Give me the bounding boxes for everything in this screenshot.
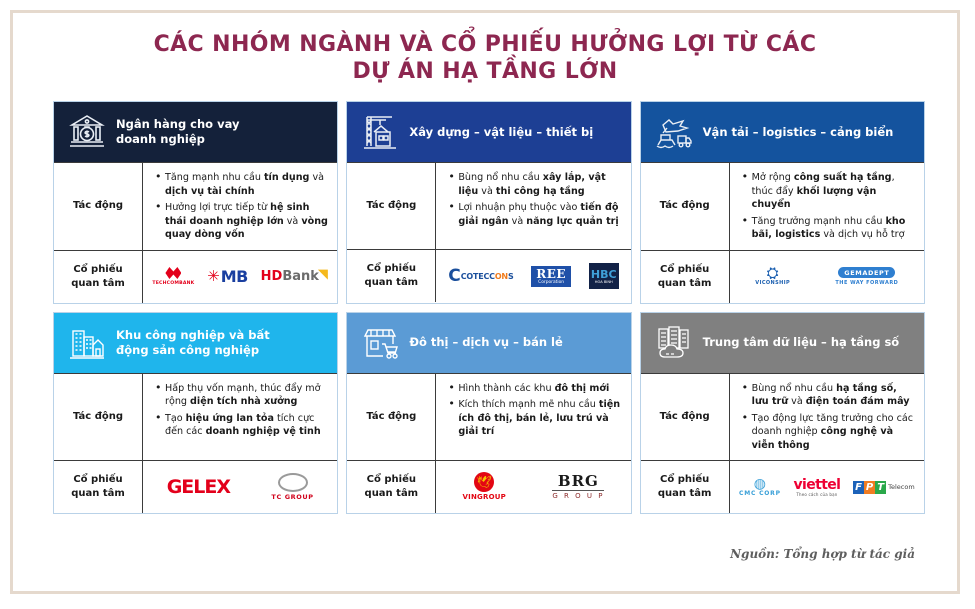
source-note: Nguồn: Tổng hợp từ tác giả <box>730 547 915 561</box>
techcombank-logo[interactable]: TECHCOMBANK <box>152 267 194 286</box>
stocks-content-data-center: ◍ CMC CORP viettel Theo cách của bạn F P… <box>729 461 924 513</box>
stocks-row-construction: Cổ phiếuquan tâm C COTECCONS REE Corpora… <box>347 249 630 302</box>
card-header-banking: Ngân hàng cho vaydoanh nghiệp <box>54 102 337 162</box>
page-title-line2: DỰ ÁN HẠ TẦNG LỚN <box>13 58 957 85</box>
stocks-label: Cổ phiếuquan tâm <box>641 251 729 303</box>
brg-label: BRG <box>558 474 599 489</box>
card-title-logistics: Vận tải – logistics – cảng biển <box>703 125 894 140</box>
stocks-row-urban-retail: Cổ phiếuquan tâm 🕊 VINGROUP BRG G R O U … <box>347 460 630 513</box>
stocks-row-banking: Cổ phiếuquan tâm TECHCOMBANK ✳ MB HD Ban… <box>54 250 337 303</box>
fpt-telecom-label: Telecom <box>888 483 915 491</box>
ree-sub-label: Corporation <box>538 280 564 285</box>
techcombank-mark <box>165 267 181 279</box>
hdbank-bank-label: Bank <box>282 269 319 284</box>
bank-icon <box>64 110 110 154</box>
hdbank-logo[interactable]: HD Bank ◥ <box>261 269 328 284</box>
viettel-logo[interactable]: viettel Theo cách của bạn <box>793 478 840 497</box>
gemadept-logo[interactable]: GEMADEPT THE WAY FORWARD <box>835 267 898 286</box>
impact-row-urban-retail: Tác động Hình thành các khu đô thị mới K… <box>347 373 630 460</box>
impact-item: Hưởng lợi trực tiếp từ hệ sinh thái doan… <box>165 201 329 242</box>
stocks-content-industrial-park: GELEX TC GROUP <box>142 461 337 513</box>
shop-icon <box>357 321 403 365</box>
factory-icon <box>64 321 110 365</box>
tcgroup-mark <box>278 473 308 492</box>
mb-label: MB <box>221 267 248 286</box>
viconship-logo[interactable]: ⛭ VICONSHIP <box>755 267 790 286</box>
impact-row-logistics: Tác động Mở rộng công suất hạ tầng, thúc… <box>641 162 924 250</box>
card-header-construction: Xây dựng – vật liệu – thiết bị <box>347 102 630 162</box>
cmc-corp-logo[interactable]: ◍ CMC CORP <box>739 478 781 497</box>
cmc-mark-icon: ◍ <box>754 478 766 490</box>
impact-content-industrial-park: Hấp thụ vốn mạnh, thúc đẩy mở rộng diện … <box>142 374 337 460</box>
impact-label: Tác động <box>54 374 142 460</box>
page-title: CÁC NHÓM NGÀNH VÀ CỔ PHIẾU HƯỞNG LỢI TỪ … <box>13 31 957 85</box>
stocks-label: Cổ phiếuquan tâm <box>54 251 142 303</box>
card-banking[interactable]: Ngân hàng cho vaydoanh nghiệp Tác động T… <box>53 101 338 304</box>
infographic-frame: CÁC NHÓM NGÀNH VÀ CỔ PHIẾU HƯỞNG LỢI TỪ … <box>10 10 960 594</box>
impact-item: Mở rộng công suất hạ tầng, thúc đẩy khối… <box>752 171 916 212</box>
impact-label: Tác động <box>641 163 729 250</box>
impact-content-banking: Tăng mạnh nhu cầu tín dụng và dịch vụ tà… <box>142 163 337 250</box>
stocks-content-construction: C COTECCONS REE Corporation HBC HOA BINH <box>435 250 630 302</box>
vingroup-label: VINGROUP <box>463 493 506 501</box>
tc-group-logo[interactable]: TC GROUP <box>271 473 313 501</box>
ree-label: REE <box>536 268 566 280</box>
impact-item: Bùng nổ nhu cầu xây lắp, vật liệu và thi… <box>458 171 622 198</box>
hbc-sub-label: HOA BINH <box>595 280 613 284</box>
fpt-p-label: P <box>864 481 875 494</box>
impact-row-industrial-park: Tác động Hấp thụ vốn mạnh, thúc đẩy mở r… <box>54 373 337 460</box>
card-title-industrial-park: Khu công nghiệp và bấtđộng sản công nghi… <box>116 328 270 358</box>
stocks-content-urban-retail: 🕊 VINGROUP BRG G R O U P <box>435 461 630 513</box>
coteccons-label: COTECCONS <box>461 272 514 281</box>
stocks-content-logistics: ⛭ VICONSHIP GEMADEPT THE WAY FORWARD <box>729 251 924 303</box>
techcombank-label: TECHCOMBANK <box>152 281 194 286</box>
impact-label: Tác động <box>347 374 435 460</box>
impact-item: Hình thành các khu đô thị mới <box>458 382 622 396</box>
impact-label: Tác động <box>347 163 435 249</box>
impact-item: Bùng nổ nhu cầu hạ tầng số, lưu trữ và đ… <box>752 382 916 409</box>
stocks-row-logistics: Cổ phiếuquan tâm ⛭ VICONSHIP GEMADEPT TH… <box>641 250 924 303</box>
impact-content-construction: Bùng nổ nhu cầu xây lắp, vật liệu và thi… <box>435 163 630 249</box>
impact-content-urban-retail: Hình thành các khu đô thị mới Kích thích… <box>435 374 630 460</box>
server-cloud-icon <box>651 321 697 365</box>
vingroup-logo[interactable]: 🕊 VINGROUP <box>463 472 506 501</box>
hoa-binh-logo[interactable]: HBC HOA BINH <box>589 263 619 289</box>
coteccons-logo[interactable]: C COTECCONS <box>448 268 513 285</box>
card-header-industrial-park: Khu công nghiệp và bấtđộng sản công nghi… <box>54 313 337 373</box>
viettel-label: viettel <box>793 478 840 492</box>
brg-group-logo[interactable]: BRG G R O U P <box>552 474 604 500</box>
card-logistics[interactable]: Vận tải – logistics – cảng biển Tác động… <box>640 101 925 304</box>
stocks-label: Cổ phiếuquan tâm <box>54 461 142 513</box>
stocks-content-banking: TECHCOMBANK ✳ MB HD Bank ◥ <box>142 251 337 303</box>
card-title-banking: Ngân hàng cho vaydoanh nghiệp <box>116 117 240 147</box>
cards-grid: Ngân hàng cho vaydoanh nghiệp Tác động T… <box>53 101 925 514</box>
fpt-f-label: F <box>853 481 864 494</box>
impact-item: Tạo hiệu ứng lan tỏa tích cực đến các do… <box>165 412 329 439</box>
crane-icon <box>357 110 403 154</box>
mb-star-icon: ✳ <box>207 269 220 284</box>
vingroup-bird-icon: 🕊 <box>474 472 494 492</box>
tcgroup-label: TC GROUP <box>271 493 313 501</box>
impact-item: Kích thích mạnh mẽ nhu cầu tiện ích đô t… <box>458 398 622 439</box>
impact-label: Tác động <box>641 374 729 461</box>
impact-item: Lợi nhuận phụ thuộc vào tiến độ giải ngâ… <box>458 201 622 228</box>
viconship-wing-icon: ⛭ <box>767 267 779 280</box>
card-title-construction: Xây dựng – vật liệu – thiết bị <box>409 125 593 140</box>
impact-item: Hấp thụ vốn mạnh, thúc đẩy mở rộng diện … <box>165 382 329 409</box>
transport-icon <box>651 110 697 154</box>
card-urban-retail[interactable]: Đô thị – dịch vụ – bán lẻ Tác động Hình … <box>346 312 631 515</box>
viettel-slogan: Theo cách của bạn <box>796 492 837 497</box>
impact-content-logistics: Mở rộng công suất hạ tầng, thúc đẩy khối… <box>729 163 924 250</box>
brg-sub-label: G R O U P <box>552 490 604 500</box>
impact-content-data-center: Bùng nổ nhu cầu hạ tầng số, lưu trữ và đ… <box>729 374 924 461</box>
hbc-label: HBC <box>591 269 617 280</box>
viconship-label: VICONSHIP <box>755 280 790 286</box>
impact-item: Tạo động lực tăng trưởng cho các doanh n… <box>752 412 916 453</box>
fpt-t-label: T <box>875 481 886 494</box>
card-title-urban-retail: Đô thị – dịch vụ – bán lẻ <box>409 335 562 350</box>
fpt-telecom-logo[interactable]: F P T Telecom <box>853 481 915 494</box>
gelex-logo[interactable]: GELEX <box>167 476 230 498</box>
card-header-logistics: Vận tải – logistics – cảng biển <box>641 102 924 162</box>
stocks-row-industrial-park: Cổ phiếuquan tâm GELEX TC GROUP <box>54 460 337 513</box>
mb-logo[interactable]: ✳ MB <box>207 267 248 286</box>
card-header-data-center: Trung tâm dữ liệu – hạ tầng số <box>641 313 924 373</box>
impact-row-banking: Tác động Tăng mạnh nhu cầu tín dụng và d… <box>54 162 337 250</box>
impact-item: Tăng mạnh nhu cầu tín dụng và dịch vụ tà… <box>165 171 329 198</box>
impact-row-construction: Tác động Bùng nổ nhu cầu xây lắp, vật li… <box>347 162 630 249</box>
ree-logo[interactable]: REE Corporation <box>531 266 571 287</box>
gemadept-label: GEMADEPT <box>838 267 895 278</box>
stocks-label: Cổ phiếuquan tâm <box>347 461 435 513</box>
cmc-label: CMC CORP <box>739 490 781 497</box>
impact-label: Tác động <box>54 163 142 250</box>
stocks-label: Cổ phiếuquan tâm <box>347 250 435 302</box>
coteccons-mark: C <box>448 268 460 285</box>
page-title-line1: CÁC NHÓM NGÀNH VÀ CỔ PHIẾU HƯỞNG LỢI TỪ … <box>13 31 957 58</box>
stocks-row-data-center: Cổ phiếuquan tâm ◍ CMC CORP viettel Theo… <box>641 460 924 513</box>
card-data-center[interactable]: Trung tâm dữ liệu – hạ tầng số Tác động … <box>640 312 925 515</box>
card-construction[interactable]: Xây dựng – vật liệu – thiết bị Tác động … <box>346 101 631 304</box>
gemadept-sub-label: THE WAY FORWARD <box>835 280 898 286</box>
card-industrial-park[interactable]: Khu công nghiệp và bấtđộng sản công nghi… <box>53 312 338 515</box>
hdbank-tick-icon: ◥ <box>318 269 328 281</box>
stocks-label: Cổ phiếuquan tâm <box>641 461 729 513</box>
hdbank-hd-label: HD <box>261 269 283 284</box>
card-header-urban-retail: Đô thị – dịch vụ – bán lẻ <box>347 313 630 373</box>
impact-item: Tăng trưởng mạnh nhu cầu kho bãi, logist… <box>752 215 916 242</box>
card-title-data-center: Trung tâm dữ liệu – hạ tầng số <box>703 335 900 350</box>
impact-row-data-center: Tác động Bùng nổ nhu cầu hạ tầng số, lưu… <box>641 373 924 461</box>
